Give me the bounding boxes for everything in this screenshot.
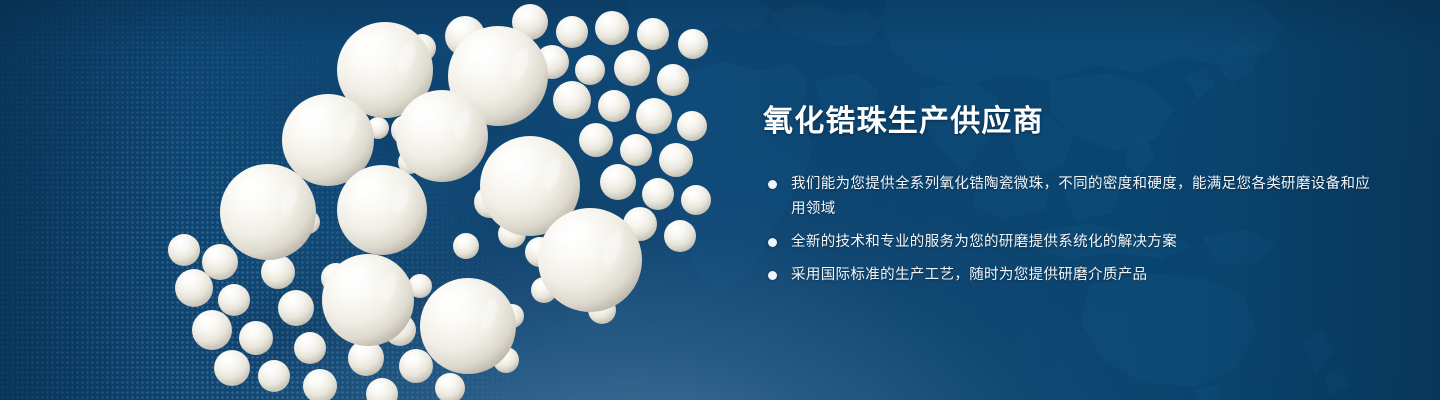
bullet-dot-icon <box>768 180 777 189</box>
banner-copy: 氧化锆珠生产供应商 我们能为您提供全系列氧化锆陶瓷微珠，不同的密度和硬度，能满足… <box>763 104 1383 288</box>
banner-bullet-item: 采用国际标准的生产工艺，随时为您提供研磨介质产品 <box>763 263 1383 288</box>
banner-headline: 氧化锆珠生产供应商 <box>763 104 1383 139</box>
bullet-text: 全新的技术和专业的服务为您的研磨提供系统化的解决方案 <box>791 230 1383 255</box>
bullet-text: 采用国际标准的生产工艺，随时为您提供研磨介质产品 <box>791 263 1383 288</box>
bullet-dot-icon <box>768 238 777 247</box>
hero-banner: 氧化锆珠生产供应商 我们能为您提供全系列氧化锆陶瓷微珠，不同的密度和硬度，能满足… <box>0 0 1440 400</box>
banner-bullet-list: 我们能为您提供全系列氧化锆陶瓷微珠，不同的密度和硬度，能满足您各类研磨设备和应用… <box>763 172 1383 288</box>
banner-bullet-item: 我们能为您提供全系列氧化锆陶瓷微珠，不同的密度和硬度，能满足您各类研磨设备和应用… <box>763 172 1383 222</box>
bullet-text: 我们能为您提供全系列氧化锆陶瓷微珠，不同的密度和硬度，能满足您各类研磨设备和应用… <box>791 172 1383 222</box>
banner-bullet-item: 全新的技术和专业的服务为您的研磨提供系统化的解决方案 <box>763 230 1383 255</box>
bullet-dot-icon <box>768 271 777 280</box>
